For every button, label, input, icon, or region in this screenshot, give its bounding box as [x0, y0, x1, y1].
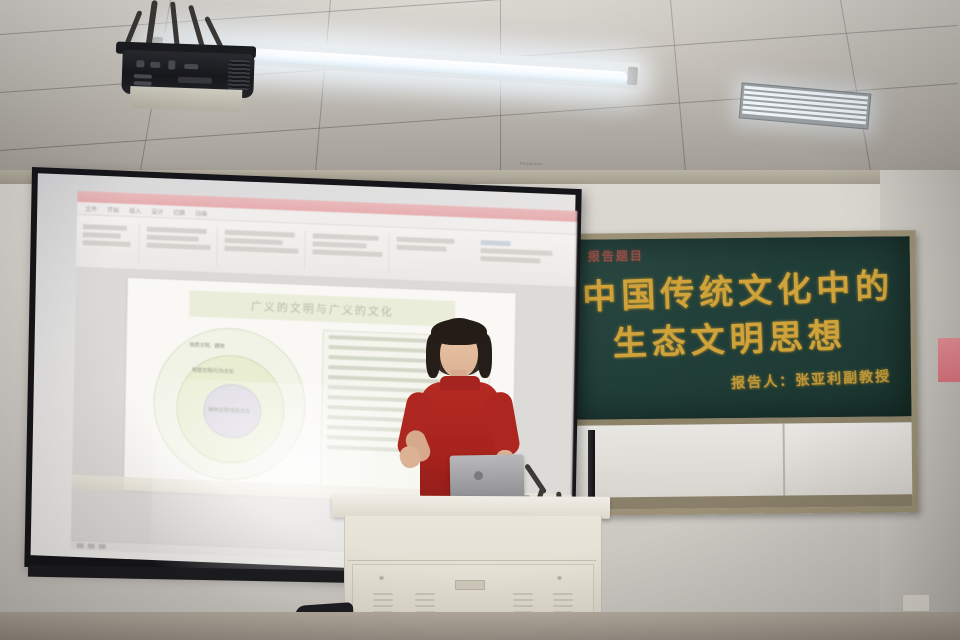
- projector-lens: [130, 86, 243, 112]
- ring-label-inner: 精神文明/观念文化: [208, 406, 250, 415]
- diagram-ring-middle: 制度文明/行为文化 精神文明/观念文化: [175, 353, 285, 465]
- floor: [0, 612, 960, 640]
- menu-item-animation[interactable]: 动画: [195, 208, 207, 217]
- ring-label-outer: 物质文明、器物: [190, 341, 225, 349]
- whiteboard-panel: [572, 422, 913, 498]
- power-outlet-icon[interactable]: [902, 594, 930, 612]
- view-button-sorter[interactable]: [88, 543, 95, 548]
- presenter-collar: [440, 376, 480, 390]
- diagram-ring-inner: 精神文明/观念文化: [203, 383, 262, 439]
- blackboard-green-surface: 报告题目 中国传统文化中的 生态文明思想 报告人：张亚利副教授: [570, 236, 912, 420]
- projector-icon: [108, 0, 268, 112]
- blackboard-title-line2: 生态文明思想: [612, 308, 848, 366]
- view-button-slideshow[interactable]: [99, 544, 106, 549]
- menu-item-insert[interactable]: 插入: [129, 205, 141, 214]
- menu-item-file[interactable]: 文件: [85, 204, 97, 213]
- lecture-hall-photo: Panasonic 报告题目 中国传统文化中的 生态文明: [0, 0, 960, 640]
- presenter-hair-left: [426, 334, 440, 378]
- slide-title-text: 广义的文明与广义的文化: [251, 298, 394, 320]
- lectern-nameplate: [455, 580, 485, 590]
- menu-item-design[interactable]: 设计: [151, 206, 163, 215]
- wall-notice: [938, 338, 960, 382]
- laptop-logo: [474, 471, 483, 480]
- menu-item-transition[interactable]: 切换: [173, 207, 185, 216]
- lectern-screw-left: [379, 575, 384, 580]
- laptop-icon[interactable]: [450, 454, 525, 499]
- presenter-hair-right: [478, 334, 492, 378]
- ring-label-middle: 制度文明/行为文化: [192, 367, 234, 376]
- light-fixture-label: Panasonic: [520, 161, 543, 166]
- blackboard-title-line1: 中国传统文化中的: [581, 258, 895, 318]
- menu-item-home[interactable]: 开始: [107, 205, 119, 214]
- blackboard: 报告题目 中国传统文化中的 生态文明思想 报告人：张亚利副教授: [564, 230, 919, 516]
- blackboard-presenter-line: 报告人：张亚利副教授: [731, 366, 892, 393]
- view-button-normal[interactable]: [77, 543, 84, 548]
- diagram-ring-outer: 物质文明、器物 制度文明/行为文化 精神文明/观念文化: [152, 325, 307, 483]
- projector-vent: [227, 60, 250, 91]
- lectern-seam: [348, 560, 596, 561]
- lectern-screw-right: [557, 575, 562, 580]
- blackboard-topic-label: 报告题目: [588, 247, 644, 265]
